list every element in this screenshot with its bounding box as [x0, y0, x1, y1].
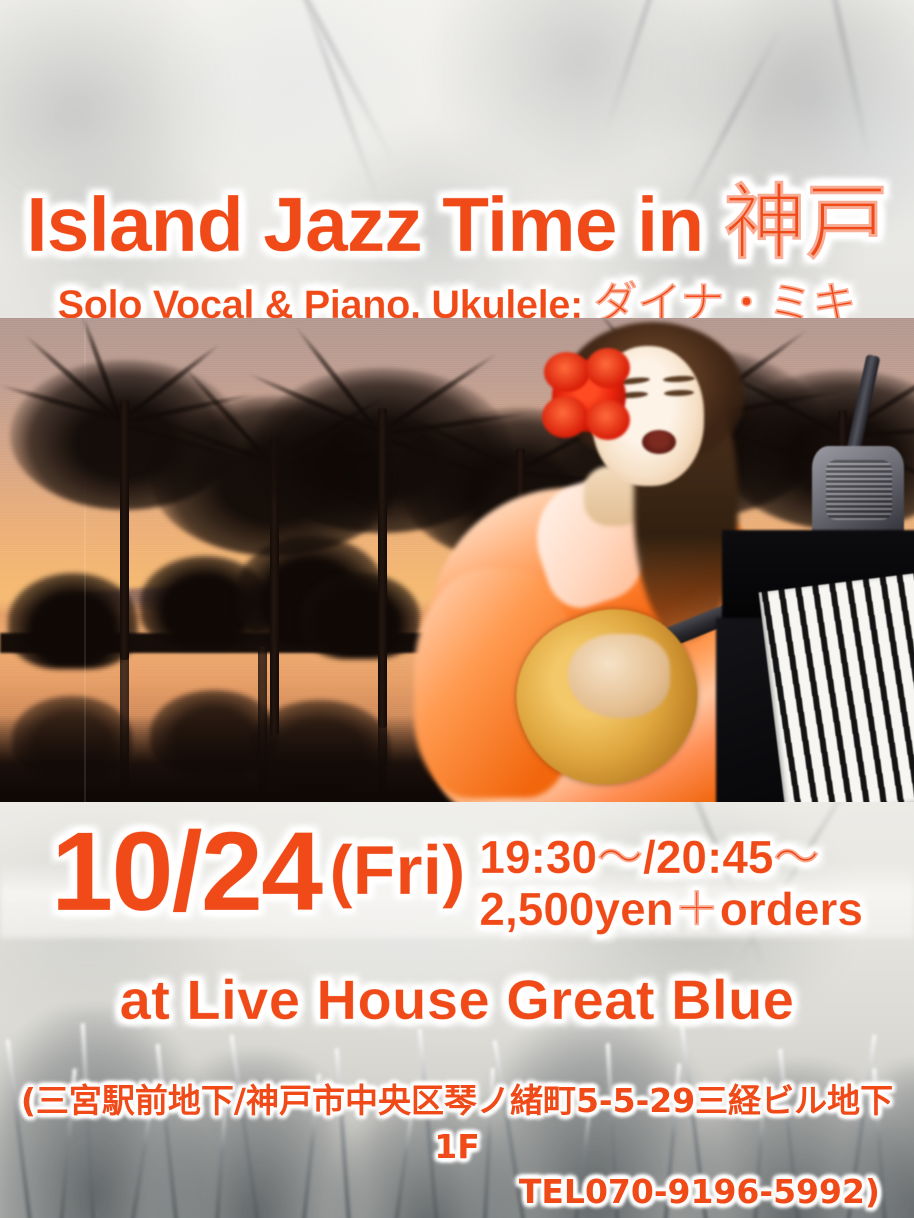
piano-keyboard	[759, 569, 914, 802]
venue-address-block: (三宮駅前地下/神戸市中央区琴ノ緒町5-5-29三経ビル地下1F TEL070-…	[0, 1078, 914, 1215]
event-date-block: 10/24 (Fri) 19:30〜/20:45〜 2,500yen＋order…	[0, 818, 914, 935]
mouth	[642, 430, 676, 454]
concert-flyer-poster: Island Jazz Time in 神戸 Solo Vocal & Pian…	[0, 0, 914, 1218]
microphone-grille	[826, 460, 892, 520]
event-time-price: 19:30〜/20:45〜 2,500yen＋orders	[479, 832, 863, 935]
venue-name: at Live House Great Blue	[0, 972, 914, 1028]
performer-photo	[0, 318, 914, 802]
event-weekday: (Fri)	[329, 818, 465, 923]
strumming-hand	[568, 634, 670, 718]
venue-address-line: (三宮駅前地下/神戸市中央区琴ノ緒町5-5-29三経ビル地下1F	[16, 1078, 898, 1169]
title-latin: Island Jazz Time in	[26, 182, 723, 268]
flower-petal	[586, 348, 630, 388]
event-times: 19:30〜/20:45〜	[479, 832, 863, 884]
performer-figure	[420, 318, 914, 802]
title-japanese: 神戸	[724, 176, 888, 271]
venue-phone: TEL070-9196-5992)	[16, 1169, 898, 1215]
event-price: 2,500yen＋orders	[479, 884, 863, 936]
flower-petal	[542, 396, 588, 438]
page-title: Island Jazz Time in 神戸	[0, 183, 914, 265]
flower-petal	[544, 352, 590, 392]
flower-petal	[586, 400, 630, 440]
event-date: 10/24	[51, 818, 321, 926]
